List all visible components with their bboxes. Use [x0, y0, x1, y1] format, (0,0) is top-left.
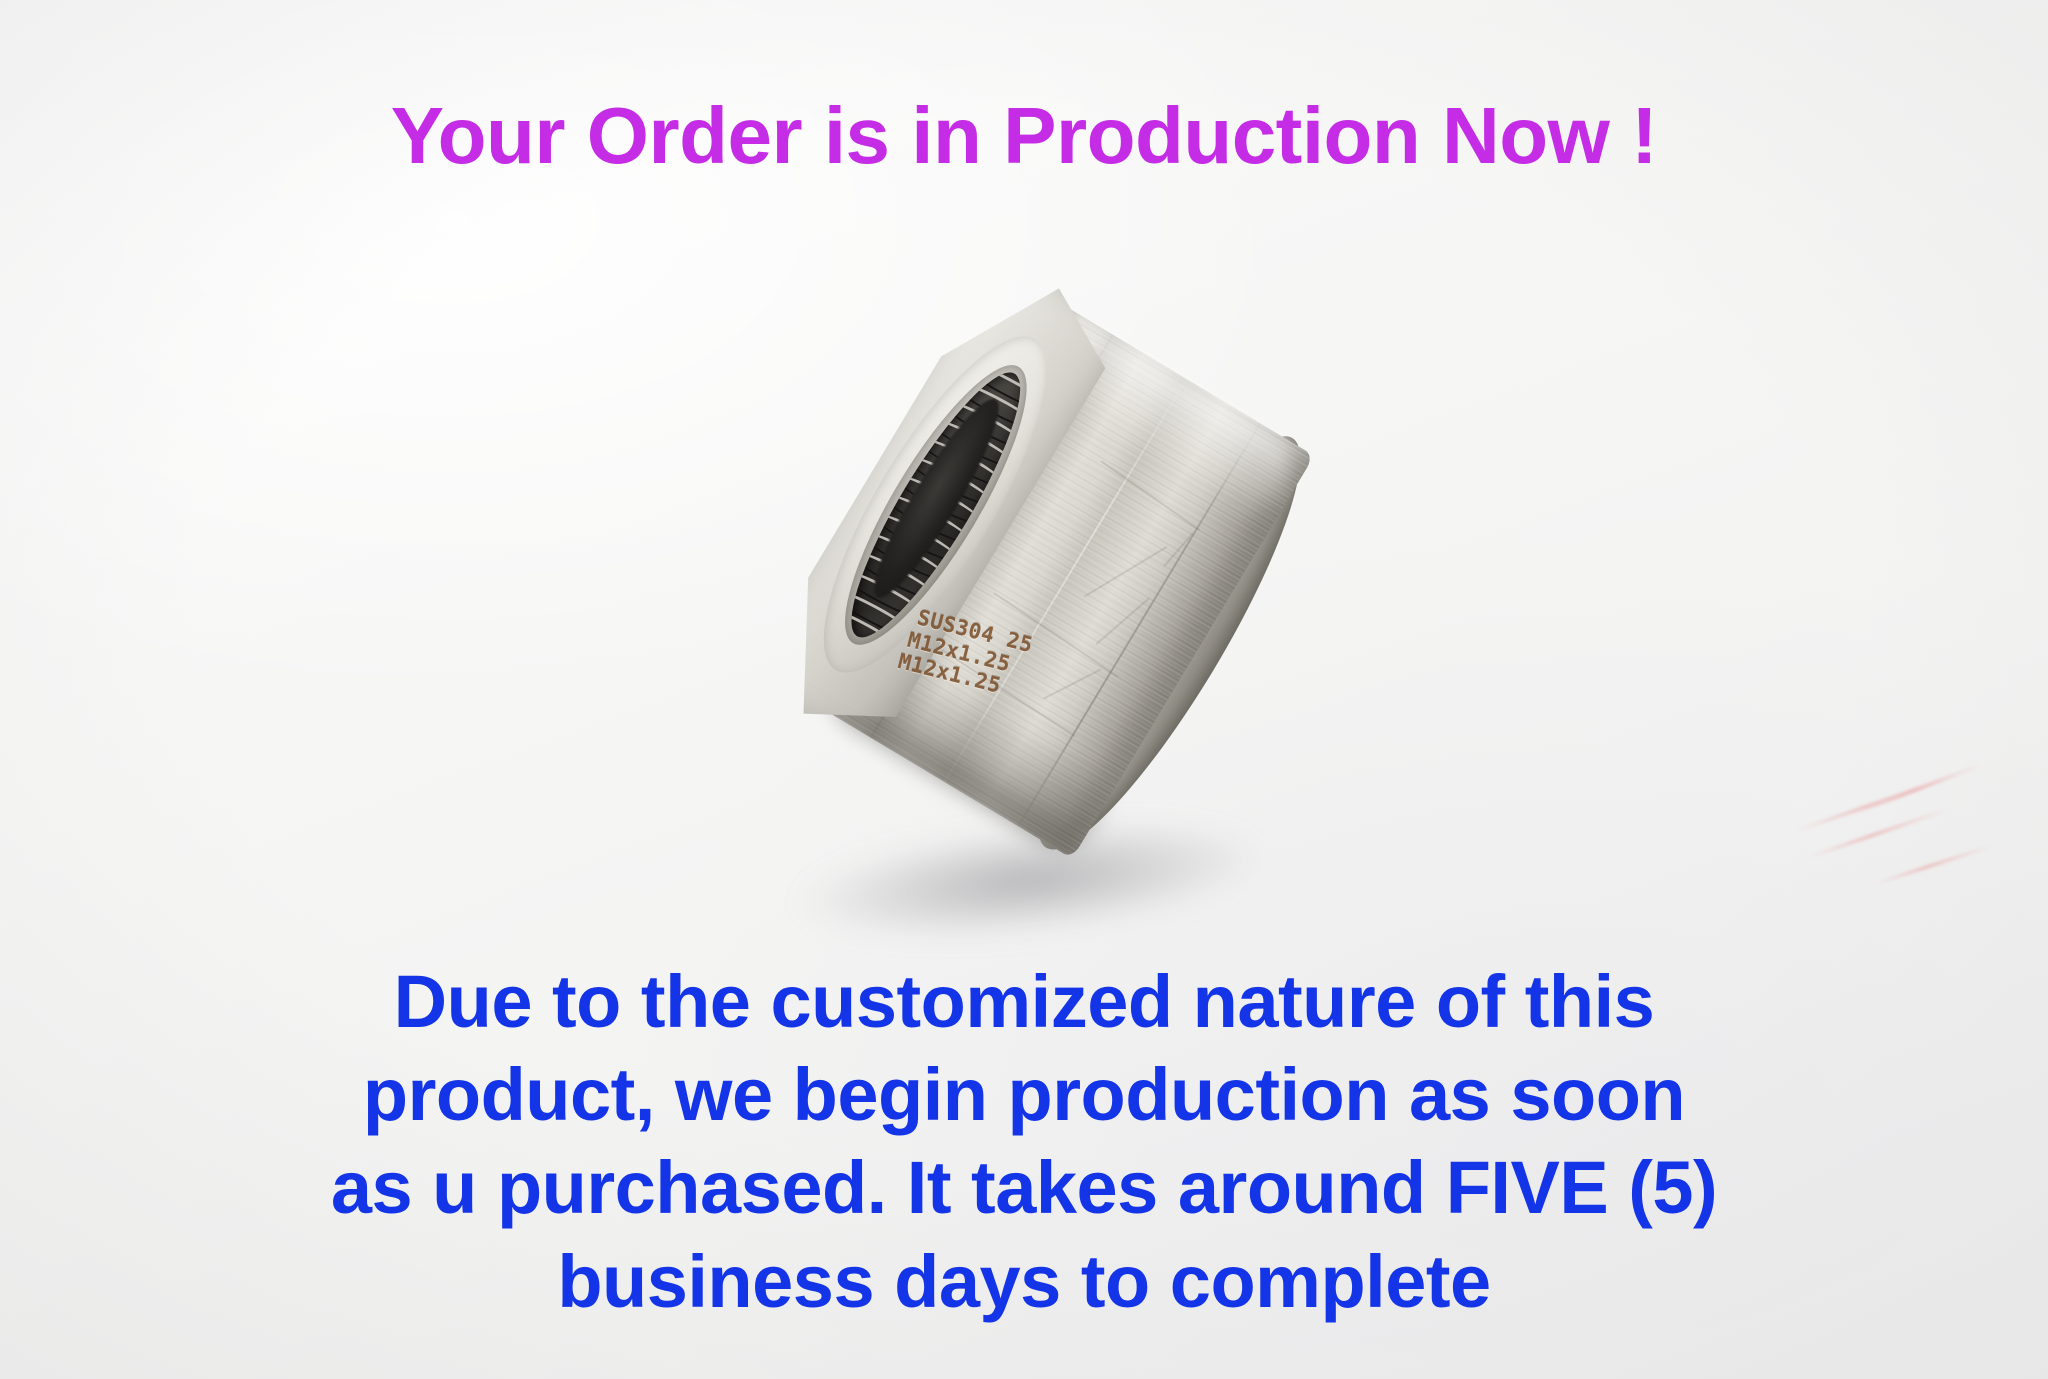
- notice-line-4: business days to complete: [0, 1235, 2048, 1328]
- product-image-coupling-nut: SUS304 25 M12x1.25 M12x1.25: [690, 300, 1520, 950]
- promo-banner: Your Order is in Production Now !: [0, 0, 2048, 1379]
- production-notice: Due to the customized nature of this pro…: [0, 955, 2048, 1328]
- page-title: Your Order is in Production Now !: [0, 96, 2048, 176]
- background-pink-streaks: [1790, 760, 2020, 910]
- notice-line-1: Due to the customized nature of this: [0, 955, 2048, 1048]
- notice-line-2: product, we begin production as soon: [0, 1048, 2048, 1141]
- notice-line-3: as u purchased. It takes around FIVE (5): [0, 1141, 2048, 1234]
